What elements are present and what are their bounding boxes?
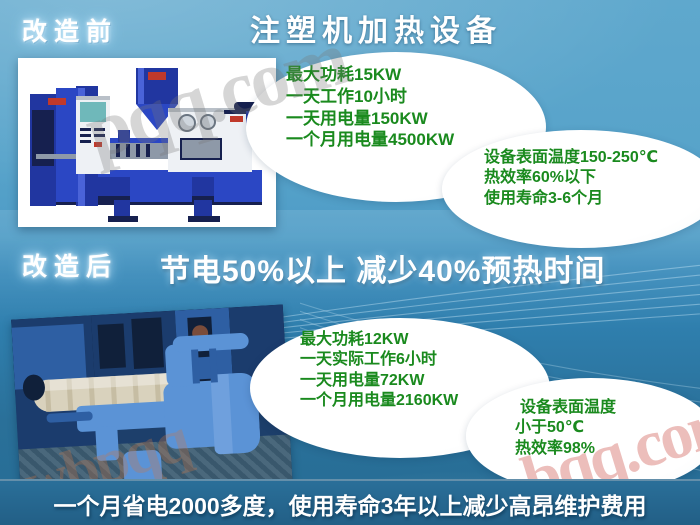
stat-line: 设备表面温度150-250℃ bbox=[484, 148, 658, 168]
stat-line: 使用寿命3-6个月 bbox=[484, 189, 658, 209]
stat-line: 最大功耗15KW bbox=[286, 64, 454, 86]
page-title: 注塑机加热设备 bbox=[250, 6, 502, 50]
bottom-banner-text: 一个月省电2000多度，使用寿命3年以上减少高昂维护费用 bbox=[0, 487, 700, 521]
stats-after-secondary: 设备表面温度 小于50℃ 热效率98% bbox=[520, 398, 616, 459]
photo-after-machine bbox=[11, 305, 293, 503]
stat-line: 最大功耗12KW bbox=[300, 330, 458, 350]
stage-label-before: 改造前 bbox=[22, 12, 118, 48]
stats-after-primary: 最大功耗12KW 一天实际工作6小时 一天用电量72KW 一个月用电量2160K… bbox=[300, 330, 458, 412]
stage-label-after: 改造后 bbox=[22, 247, 118, 283]
stats-before-secondary: 设备表面温度150-250℃ 热效率60%以下 使用寿命3-6个月 bbox=[484, 148, 658, 209]
stat-line: 设备表面温度 bbox=[520, 398, 616, 418]
photo-before-machine bbox=[18, 58, 276, 227]
stat-line: 一个月用电量4500KW bbox=[286, 129, 454, 151]
stat-line: 一个月用电量2160KW bbox=[300, 391, 458, 411]
stat-line: 热效率60%以下 bbox=[484, 168, 658, 188]
stat-line: 热效率98% bbox=[515, 439, 616, 459]
stat-line: 一天用电量150KW bbox=[286, 108, 454, 130]
stats-before-primary: 最大功耗15KW 一天工作10小时 一天用电量150KW 一个月用电量4500K… bbox=[286, 64, 454, 151]
savings-headline: 节电50%以上 减少40%预热时间 bbox=[160, 246, 605, 290]
stat-line: 一天实际工作6小时 bbox=[300, 350, 458, 370]
stat-line: 小于50℃ bbox=[515, 418, 616, 438]
poster-canvas: 注塑机加热设备 改造前 改造后 节电50%以上 减少40%预热时间 bbox=[0, 0, 700, 525]
stat-line: 一天用电量72KW bbox=[300, 371, 458, 391]
stat-line: 一天工作10小时 bbox=[286, 86, 454, 108]
